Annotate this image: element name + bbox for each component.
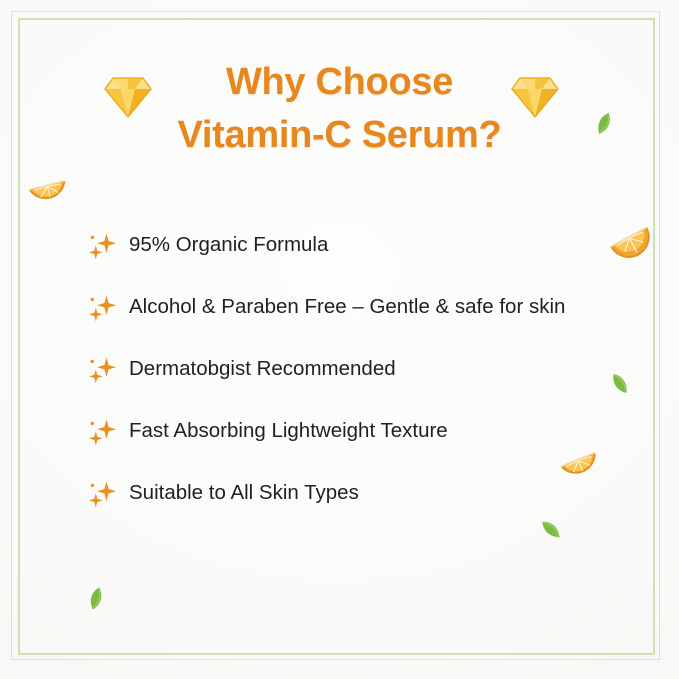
sparkles-icon (84, 290, 118, 324)
page-title-line-1: Why Choose (0, 56, 679, 109)
list-item: Suitable to All Skin Types (84, 462, 624, 524)
orange-slice-icon (28, 176, 70, 210)
vitamin-c-benefits-poster: Why Choose Vitamin-C Serum? 95% Organic … (0, 0, 679, 679)
list-item-label: Alcohol & Paraben Free – Gentle & safe f… (129, 294, 565, 320)
sparkles-icon (84, 352, 118, 386)
sparkles-icon (84, 414, 118, 448)
list-item-label: 95% Organic Formula (129, 232, 328, 258)
list-item-label: Suitable to All Skin Types (129, 480, 359, 506)
leaf-icon (85, 584, 107, 612)
page-title: Why Choose Vitamin-C Serum? (0, 56, 679, 162)
list-item: Dermatobgist Recommended (84, 338, 624, 400)
page-title-line-2: Vitamin-C Serum? (0, 109, 679, 162)
list-item-label: Fast Absorbing Lightweight Texture (129, 418, 448, 444)
list-item: Fast Absorbing Lightweight Texture (84, 400, 624, 462)
list-item: 95% Organic Formula (84, 214, 624, 276)
list-item: Alcohol & Paraben Free – Gentle & safe f… (84, 276, 624, 338)
benefits-list: 95% Organic Formula Alcohol & Paraben Fr… (84, 214, 624, 524)
sparkles-icon (84, 228, 118, 262)
list-item-label: Dermatobgist Recommended (129, 356, 396, 382)
sparkles-icon (84, 476, 118, 510)
